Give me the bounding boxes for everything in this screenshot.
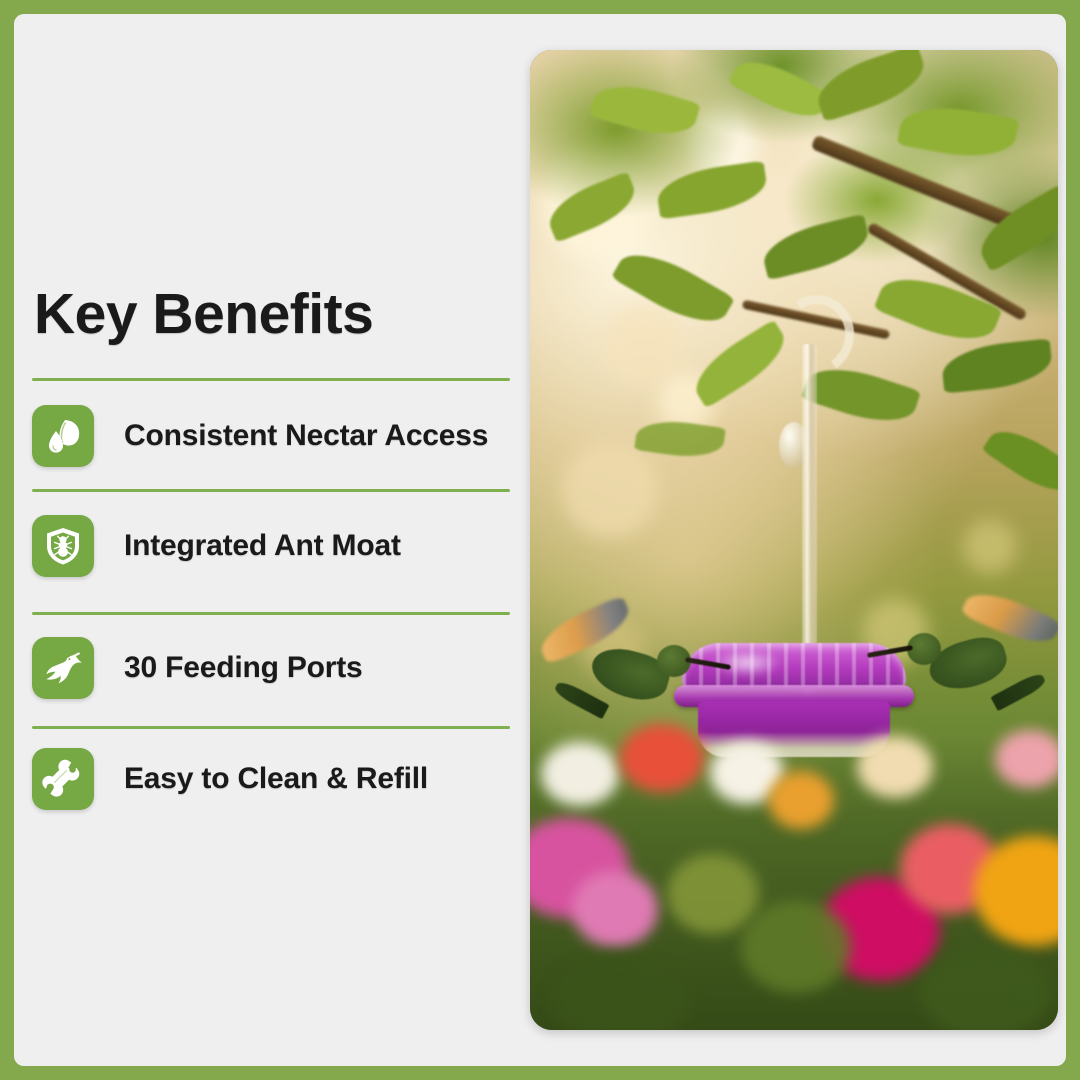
hummingbird-tail bbox=[991, 671, 1048, 711]
hummingbird-icon bbox=[41, 646, 85, 690]
shield-ant-icon bbox=[41, 524, 85, 568]
photo-scene bbox=[530, 50, 1058, 1030]
bokeh-highlight bbox=[963, 520, 1017, 574]
flower-blossom bbox=[541, 742, 619, 806]
flower-blossom bbox=[995, 730, 1058, 788]
wrench-icon bbox=[41, 757, 85, 801]
benefit-item-consistent-nectar-access: Consistent Nectar Access bbox=[32, 404, 510, 468]
divider-title bbox=[32, 378, 510, 381]
wrench-icon-tile bbox=[32, 748, 94, 810]
benefit-item-easy-to-clean-refill: Easy to Clean & Refill bbox=[32, 747, 510, 811]
benefit-item-integrated-ant-moat: Integrated Ant Moat bbox=[32, 514, 510, 578]
hummingbird-beak bbox=[685, 657, 731, 670]
leaf-droplet-icon-tile bbox=[32, 405, 94, 467]
foliage-clump bbox=[921, 948, 1051, 1030]
flower-blossom bbox=[768, 771, 834, 829]
foliage-clump bbox=[551, 954, 691, 1030]
flower-blossom bbox=[857, 736, 933, 798]
foliage-clump bbox=[667, 854, 759, 934]
benefits-column: Key Benefits Consistent Nectar Access bbox=[32, 14, 512, 1066]
leaf-droplet-icon bbox=[41, 414, 85, 458]
benefit-label: Integrated Ant Moat bbox=[124, 529, 401, 563]
inner-panel: Key Benefits Consistent Nectar Access bbox=[14, 14, 1066, 1066]
product-photo bbox=[530, 50, 1058, 1030]
benefit-item-30-feeding-ports: 30 Feeding Ports bbox=[32, 636, 510, 700]
foliage-clump bbox=[741, 901, 851, 993]
benefit-label: Easy to Clean & Refill bbox=[124, 762, 428, 796]
flower-blossom bbox=[572, 871, 658, 947]
shield-ant-icon-tile bbox=[32, 515, 94, 577]
divider-3 bbox=[32, 726, 510, 729]
page-title: Key Benefits bbox=[34, 286, 373, 343]
hummingbird-icon-tile bbox=[32, 637, 94, 699]
divider-1 bbox=[32, 489, 510, 492]
poster-frame: Key Benefits Consistent Nectar Access bbox=[0, 0, 1080, 1080]
benefit-label: 30 Feeding Ports bbox=[124, 651, 363, 685]
flower-garden bbox=[530, 736, 1058, 1030]
hummingbird-right bbox=[827, 599, 1047, 749]
benefit-label: Consistent Nectar Access bbox=[124, 419, 488, 453]
divider-2 bbox=[32, 612, 510, 615]
flower-blossom bbox=[620, 724, 704, 792]
